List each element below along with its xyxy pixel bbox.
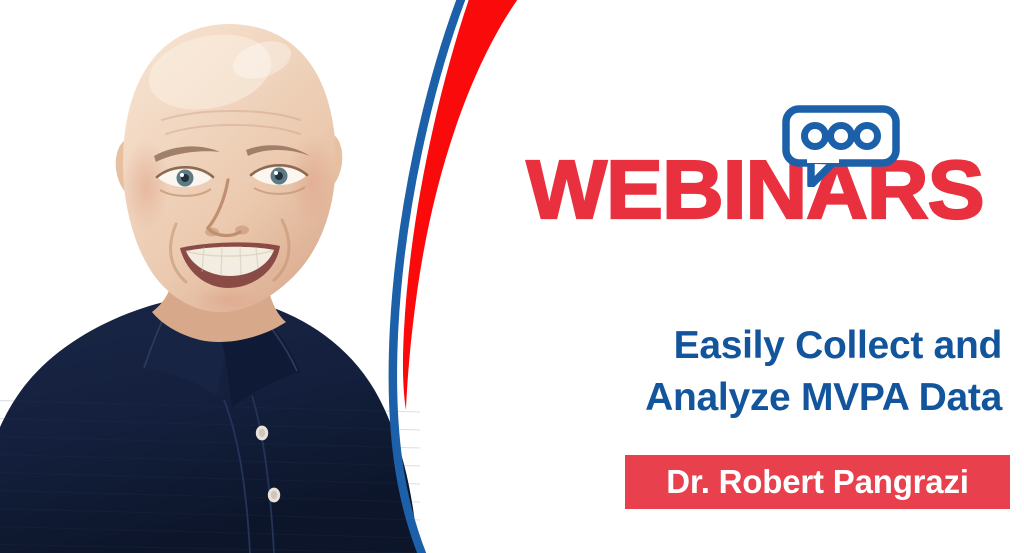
- headline-line-1: Easily Collect and: [520, 320, 1002, 372]
- headline-line-2: Analyze MVPA Data: [520, 372, 1002, 424]
- webinar-banner: WEBINARS Easily Collect and Analyze MVPA…: [0, 0, 1024, 553]
- portrait-illustration: [0, 0, 430, 553]
- bubble-dot: [831, 126, 852, 147]
- webinar-headline: Easily Collect and Analyze MVPA Data: [520, 320, 1002, 424]
- bubble-dot: [857, 126, 878, 147]
- bubble-dot: [805, 126, 826, 147]
- speaker-portrait: [0, 0, 430, 553]
- webinars-logo: WEBINARS: [500, 105, 1010, 245]
- speaker-name: Dr. Robert Pangrazi: [666, 465, 968, 499]
- speech-bubble-icon: [781, 105, 901, 187]
- webinars-wordmark: WEBINARS: [492, 147, 1017, 233]
- shirt-button: [256, 426, 268, 441]
- shirt-button: [268, 488, 280, 503]
- speaker-name-badge: Dr. Robert Pangrazi: [625, 455, 1010, 509]
